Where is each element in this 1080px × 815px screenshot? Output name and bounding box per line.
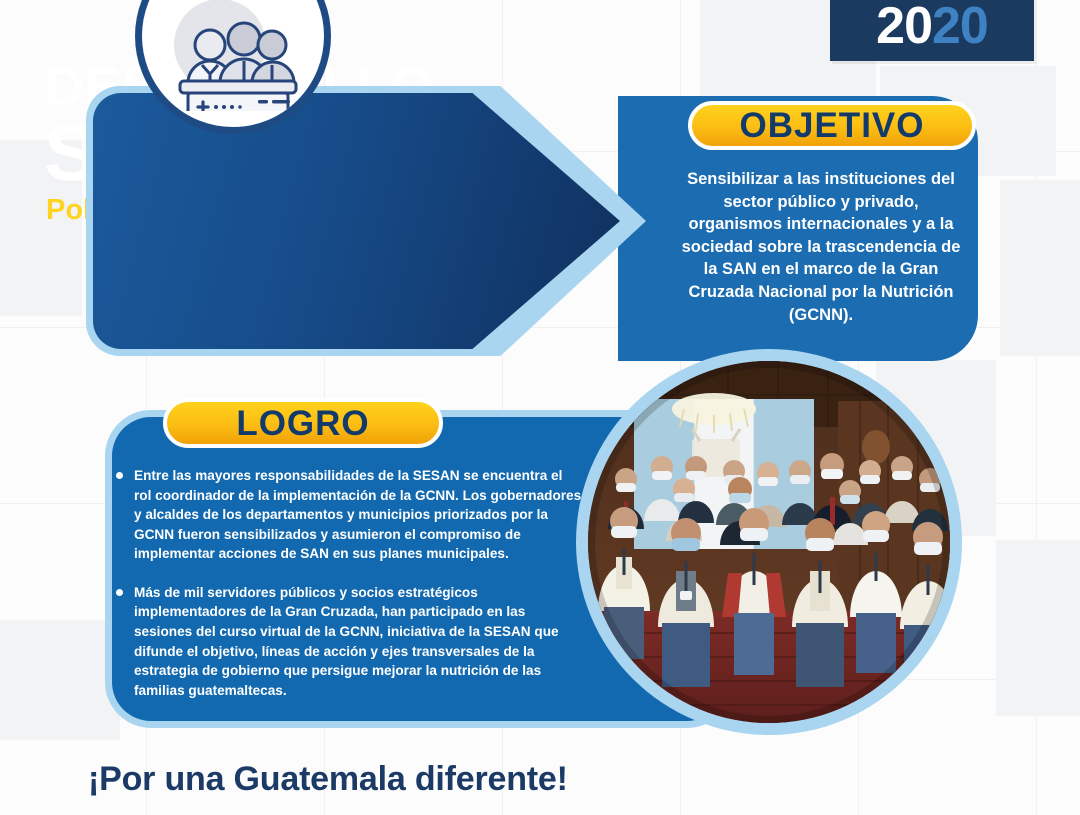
year-badge: 2020: [830, 0, 1034, 61]
list-item: Entre las mayores responsabilidades de l…: [113, 466, 583, 564]
group-photo-circle: [576, 349, 962, 735]
title-banner: [86, 86, 646, 356]
tagline: ¡Por una Guatemala diferente!: [88, 762, 568, 796]
logro-badge-label: LOGRO: [236, 406, 369, 441]
year-first-half: 20: [876, 0, 932, 55]
objetivo-badge: OBJETIVO: [688, 101, 976, 150]
infographic-poster: 2020 DESARROLLO SOCIAL Política General …: [0, 0, 1080, 815]
logro-bullet-list: Entre las mayores responsabilidades de l…: [113, 466, 583, 719]
logro-badge: LOGRO: [163, 398, 443, 448]
group-photo: [588, 361, 950, 723]
objetivo-body-text: Sensibilizar a las instituciones del sec…: [676, 168, 966, 326]
objetivo-badge-label: OBJETIVO: [740, 108, 925, 143]
list-item: Más de mil servidores públicos y socios …: [113, 583, 583, 700]
year-second-half: 20: [932, 0, 988, 55]
